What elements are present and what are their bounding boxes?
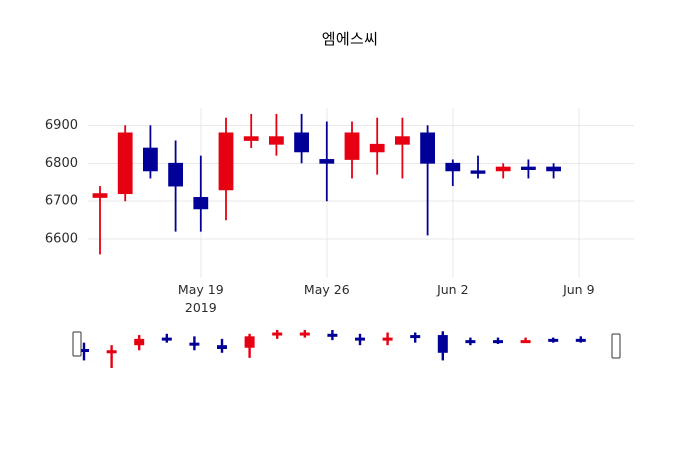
candlestick[interactable]	[547, 163, 561, 178]
candlestick[interactable]	[194, 156, 208, 232]
candle-body	[93, 194, 107, 198]
candle-body	[547, 167, 561, 171]
navigator-candlestick	[300, 330, 310, 338]
candlestick[interactable]	[421, 125, 435, 235]
navigator-candlestick	[162, 334, 172, 343]
navigator-candle-body	[300, 333, 310, 336]
candlestick[interactable]	[244, 114, 258, 148]
navigator-candle-body	[107, 350, 117, 353]
range-slider-navigator[interactable]	[73, 330, 620, 368]
navigator-candle-body	[355, 338, 365, 341]
y-axis-tick-label: 6700	[45, 194, 78, 209]
navigator-candle-body	[134, 339, 144, 345]
candlestick[interactable]	[446, 159, 460, 186]
range-handle-left[interactable]	[73, 332, 81, 356]
navigator-candlestick	[383, 333, 393, 346]
navigator-candlestick	[245, 334, 255, 358]
candle-body	[320, 159, 334, 163]
candle-body	[143, 148, 157, 171]
y-axis-tick-label: 6600	[45, 232, 78, 247]
navigator-candle-body	[576, 339, 586, 342]
navigator-candlestick	[465, 338, 475, 346]
navigator-candlestick	[189, 336, 199, 350]
navigator-candlestick	[355, 334, 365, 345]
candlestick[interactable]	[93, 186, 107, 254]
candlestick[interactable]	[395, 118, 409, 179]
navigator-candle-body	[465, 340, 475, 343]
candlestick-chart-container: 엠에스씨 6600670068006900 May 192019May 26Ju…	[0, 0, 700, 450]
navigator-candlestick	[548, 338, 558, 343]
candle-body	[219, 133, 233, 190]
navigator-candlestick	[134, 335, 144, 350]
navigator-candle-body	[383, 338, 393, 341]
navigator-candlestick	[327, 330, 337, 340]
candle-body	[395, 137, 409, 145]
navigator-candle-body	[327, 334, 337, 337]
candle-body	[194, 197, 208, 208]
x-axis-tick-label: May 19	[178, 282, 224, 297]
navigator-candle-body	[245, 336, 255, 347]
navigator-candlestick	[438, 331, 448, 360]
navigator-candle-body	[438, 335, 448, 353]
candlestick[interactable]	[169, 140, 183, 231]
candlestick[interactable]	[219, 118, 233, 221]
candlestick[interactable]	[345, 121, 359, 178]
y-axis-tick-label: 6900	[45, 118, 78, 133]
candle-body	[446, 163, 460, 171]
navigator-candle-body	[217, 345, 227, 349]
candle-body	[118, 133, 132, 194]
navigator-candle-body	[493, 340, 503, 343]
page-title: 엠에스씨	[0, 28, 700, 49]
candlestick[interactable]	[521, 159, 535, 178]
navigator-candlestick	[521, 338, 531, 344]
navigator-candle-body	[410, 335, 420, 338]
navigator-candlestick	[217, 339, 227, 353]
candlestick[interactable]	[269, 114, 283, 156]
grid-layer	[88, 108, 634, 278]
candlestick[interactable]	[320, 121, 334, 201]
candle-body	[345, 133, 359, 160]
candlestick[interactable]	[143, 125, 157, 178]
candle-body	[370, 144, 384, 152]
navigator-candle-body	[548, 339, 558, 342]
navigator-candlestick	[576, 336, 586, 342]
candle-body	[295, 133, 309, 152]
candle-body	[421, 133, 435, 163]
candlestick[interactable]	[496, 163, 510, 178]
candle-body	[269, 137, 283, 145]
x-axis-tick-label: Jun 9	[562, 282, 595, 297]
candle-body	[471, 171, 485, 174]
navigator-candlestick	[107, 345, 117, 368]
candlestick[interactable]	[471, 156, 485, 179]
candlestick[interactable]	[370, 118, 384, 175]
navigator-candlestick	[493, 338, 503, 344]
navigator-candlestick	[410, 333, 420, 343]
navigator-candle-body	[521, 340, 531, 343]
x-axis-ticks: May 192019May 26Jun 2Jun 9	[178, 282, 595, 315]
candle-body	[521, 167, 535, 170]
candle-body	[244, 137, 258, 141]
y-axis-tick-label: 6800	[45, 156, 78, 171]
candle-body	[169, 163, 183, 186]
chart-canvas[interactable]: 6600670068006900 May 192019May 26Jun 2Ju…	[0, 0, 700, 450]
navigator-candle-body	[162, 338, 172, 341]
navigator-candle-body	[272, 333, 282, 336]
x-axis-tick-sublabel: 2019	[185, 300, 217, 315]
x-axis-tick-label: May 26	[304, 282, 350, 297]
candlestick[interactable]	[118, 125, 132, 201]
navigator-candle-body	[189, 343, 199, 346]
navigator-candlestick	[272, 330, 282, 339]
range-handle-right[interactable]	[612, 334, 620, 358]
candlestick[interactable]	[295, 114, 309, 163]
x-axis-tick-label: Jun 2	[436, 282, 468, 297]
candle-body	[496, 167, 510, 171]
y-axis-ticks: 6600670068006900	[45, 118, 78, 247]
